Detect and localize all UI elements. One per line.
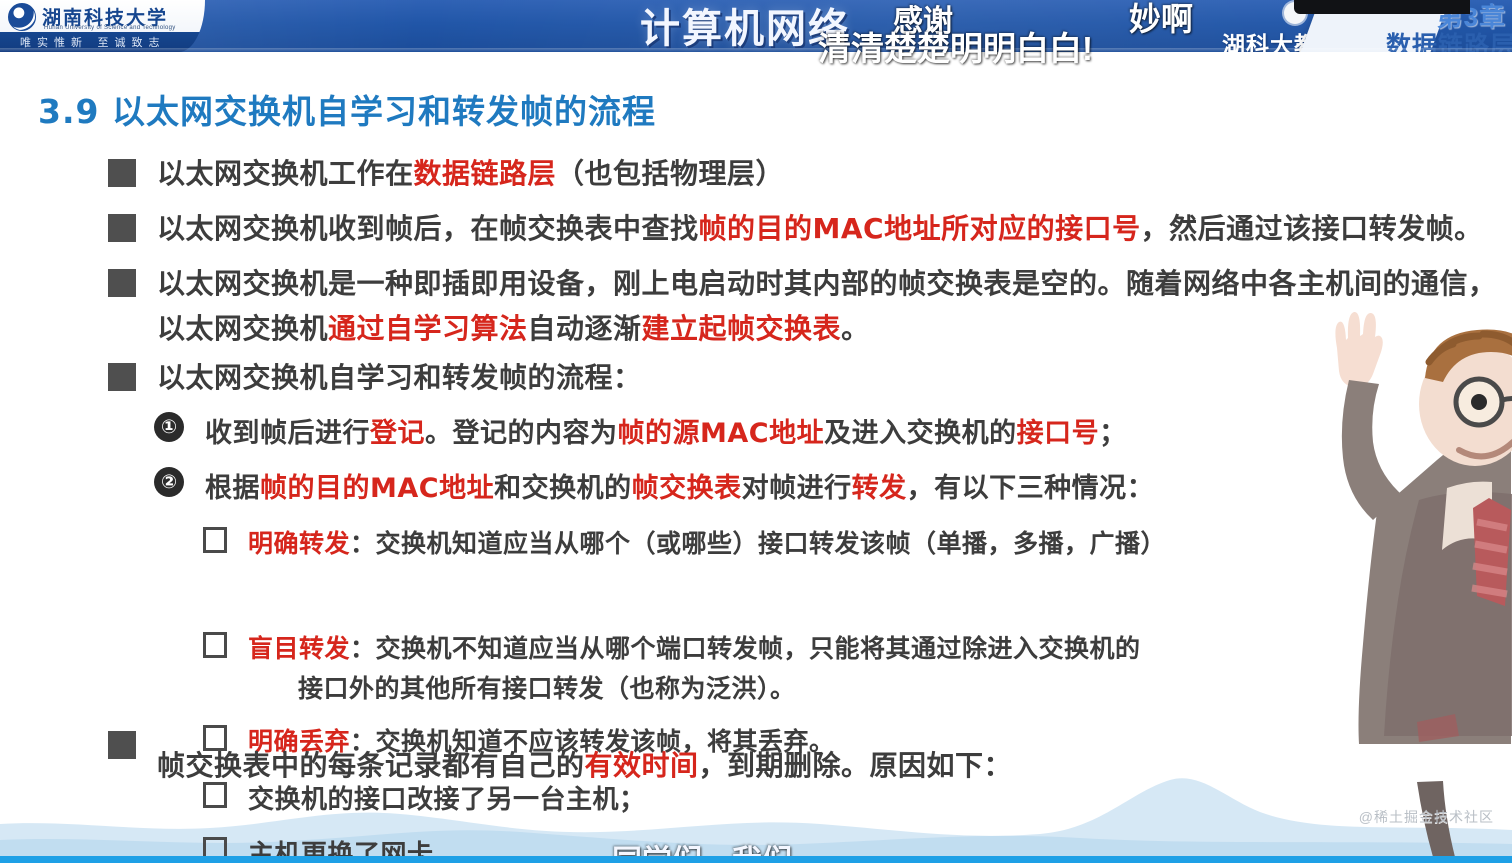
bullet-line-5: 帧交换表中的每条记录都有自己的有效时间，到期删除。原因如下：: [157, 744, 1012, 784]
checkbox-marker: [203, 527, 227, 553]
text-run: 根据: [205, 473, 260, 504]
checkbox-marker: [203, 782, 227, 808]
text-run: 接口外的其他所有接口转发（也称为泛洪）。: [298, 674, 796, 703]
bullet-line-3b: 以太网交换机通过自学习算法自动逐渐建立起帧交换表。: [157, 307, 870, 347]
bullet-marker-square: [108, 363, 136, 391]
text-run-emphasis: 接口号: [1017, 418, 1100, 449]
text-run: （也包括物理层）: [556, 157, 784, 190]
bullet-marker-square: [108, 214, 136, 242]
numbered-line-1: 收到帧后进行登记。登记的内容为帧的源MAC地址及进入交换机的接口号；: [205, 411, 1127, 450]
text-run-emphasis: 有效时间: [585, 749, 699, 782]
text-run: 自动逐渐: [528, 312, 642, 345]
course-title: 计算机网络: [640, 0, 850, 52]
text-run-emphasis: 数据链路层: [414, 157, 557, 190]
university-motto: 唯实惟新 至诚致志: [20, 34, 166, 50]
text-run: 帧交换表中的每条记录都有自己的: [157, 749, 585, 782]
checkbox-marker: [203, 632, 227, 658]
text-run-emphasis: 盲目转发: [248, 634, 350, 663]
text-run: 及进入交换机的: [824, 418, 1017, 449]
sub-line-explicit-forward: 明确转发：交换机知道应当从哪个（或哪些）接口转发该帧（单播，多播，广播）: [248, 524, 1166, 560]
bullet-line-2: 以太网交换机收到帧后，在帧交换表中查找帧的目的MAC地址所对应的接口号，然后通过…: [157, 207, 1483, 247]
text-run-emphasis: 登记: [370, 418, 425, 449]
text-run: ，到期删除。原因如下：: [699, 749, 1013, 782]
text-run: 收到帧后进行: [205, 418, 370, 449]
text-run-emphasis: 明确转发: [248, 529, 350, 558]
circled-number-1: ①: [154, 412, 184, 442]
numbered-line-2: 根据帧的目的MAC地址和交换机的帧交换表对帧进行转发，有以下三种情况：: [205, 466, 1154, 505]
sub-line-blind-forward-a: 盲目转发：交换机不知道应当从哪个端口转发帧，只能将其通过除进入交换机的: [248, 629, 1141, 665]
video-player-stage: 3.9 以太网交换机自学习和转发帧的流程 以太网交换机工作在数据链路层（也包括物…: [0, 0, 1512, 863]
circled-number-2: ②: [154, 467, 184, 497]
text-run: 以太网交换机: [157, 312, 328, 345]
bullet-marker-square: [108, 731, 136, 759]
text-run: ，有以下三种情况：: [907, 473, 1155, 504]
text-run-emphasis: 通过自学习算法: [328, 312, 528, 345]
text-run: 对帧进行: [742, 473, 852, 504]
video-progress-fill: [0, 856, 1512, 863]
text-run-emphasis: 帧交换表: [632, 473, 742, 504]
text-run: 以太网交换机收到帧后，在帧交换表中查找: [157, 212, 699, 245]
text-run: 以太网交换机工作在: [157, 157, 414, 190]
sub-line-blind-forward-b: 接口外的其他所有接口转发（也称为泛洪）。: [298, 669, 796, 705]
video-progress-bar[interactable]: [0, 856, 1512, 863]
watermark: @稀土掘金技术社区: [1359, 807, 1494, 827]
slide-canvas: 3.9 以太网交换机自学习和转发帧的流程 以太网交换机工作在数据链路层（也包括物…: [0, 52, 1512, 863]
text-run: 以太网交换机自学习和转发帧的流程：: [157, 361, 642, 394]
text-run-emphasis: 帧的目的MAC地址: [260, 473, 494, 504]
page-title: 3.9 以太网交换机自学习和转发帧的流程: [38, 85, 656, 133]
bullet-marker-square: [108, 159, 136, 187]
text-run: ：交换机不知道应当从哪个端口转发帧，只能将其通过除进入交换机的: [350, 634, 1141, 663]
university-seal-icon: [8, 3, 36, 31]
university-logo-block: 湖南科技大学 Hunan University of Science and T…: [0, 0, 205, 52]
course-banner: 湖南科技大学 Hunan University of Science and T…: [0, 0, 1512, 52]
text-run: 以太网交换机是一种即插即用设备，刚上电启动时其内部的帧交换表是空的。随着网络中各…: [157, 267, 1497, 300]
text-run-emphasis: 转发: [852, 473, 907, 504]
text-run: ，然后通过该接口转发帧。: [1141, 212, 1483, 245]
text-run-emphasis: 帧的源MAC地址: [618, 418, 825, 449]
bullet-line-3a: 以太网交换机是一种即插即用设备，刚上电启动时其内部的帧交换表是空的。随着网络中各…: [157, 262, 1497, 302]
chapter-name: 数据链路层: [1386, 26, 1512, 52]
text-run: 交换机的接口改接了另一台主机；: [248, 785, 646, 815]
bullet-line-1: 以太网交换机工作在数据链路层（也包括物理层）: [157, 152, 784, 192]
screen-notch: [1294, 0, 1470, 14]
text-run-emphasis: 建立起帧交换表: [642, 312, 842, 345]
bullet-line-4: 以太网交换机自学习和转发帧的流程：: [157, 356, 642, 396]
text-run: ：交换机知道应当从哪个（或哪些）接口转发该帧（单播，多播，广播）: [350, 529, 1166, 558]
text-run-emphasis: 帧的目的MAC地址所对应的接口号: [699, 212, 1141, 245]
text-run: 和交换机的: [494, 473, 632, 504]
text-run: 。登记的内容为: [425, 418, 618, 449]
bullet-marker-square: [108, 269, 136, 297]
text-run: 。: [841, 312, 870, 345]
text-run: ；: [1099, 418, 1127, 449]
sub-line-reconnect: 交换机的接口改接了另一台主机；: [248, 779, 646, 816]
university-name-en: Hunan University of Science and Technolo…: [44, 25, 176, 31]
